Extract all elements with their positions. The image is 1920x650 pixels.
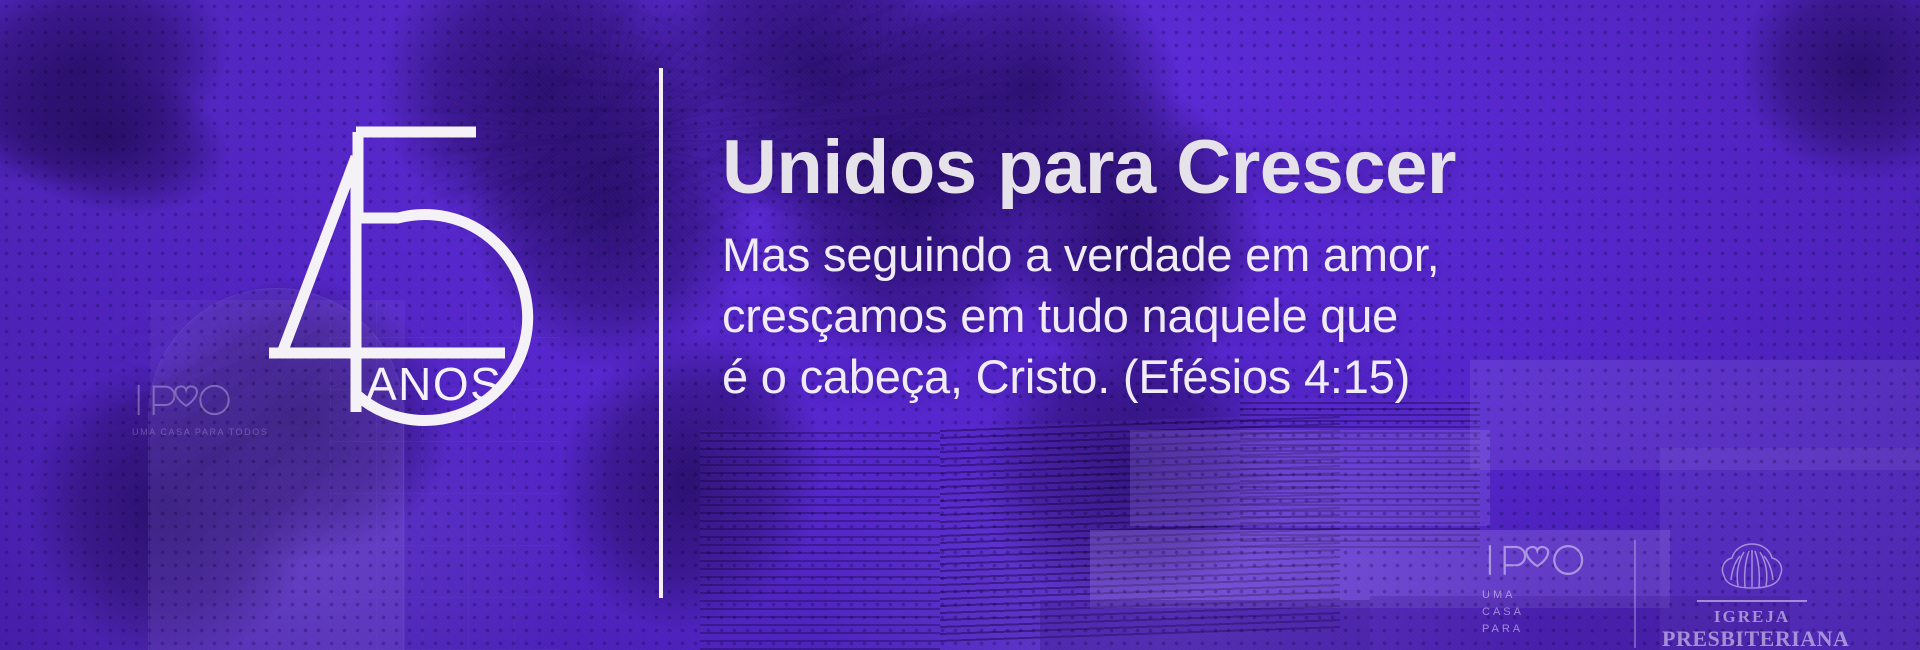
- ipb-logo: IGREJA PRESBITERIANA DOBRASIL: [1662, 540, 1842, 650]
- footer-logo-lockup: UMA CASA PARA IGREJA: [1482, 540, 1842, 650]
- lockup-divider: [1634, 540, 1636, 648]
- page-title: Unidos para Crescer: [722, 130, 1782, 206]
- burning-bush-icon: [1716, 540, 1788, 596]
- ipo-tagline-stack: UMA CASA PARA: [1482, 587, 1608, 638]
- bible-verse: Mas seguindo a verdade em amor, cresçamo…: [722, 224, 1782, 407]
- verse-line-2: cresçamos em tudo naquele que: [722, 285, 1782, 346]
- vertical-divider: [659, 68, 663, 598]
- ipb-line-1: IGREJA: [1662, 607, 1842, 627]
- verse-line-3: é o cabeça, Cristo. (Efésios 4:15): [722, 346, 1782, 407]
- ipo-tagline-line-1: UMA: [1482, 587, 1608, 604]
- anniversary-label: ANOS: [366, 358, 502, 410]
- anniversary-banner: UMA CASA PARA TODOS ANOS Unidos para Cre…: [0, 0, 1920, 650]
- ipb-line-2: PRESBITERIANA: [1662, 626, 1842, 650]
- ipb-rule: [1697, 600, 1807, 602]
- ipo-tagline-line-3: PARA: [1482, 621, 1608, 638]
- ipo-logo: UMA CASA PARA: [1482, 540, 1608, 638]
- anniversary-45-anos-logo: ANOS: [160, 100, 520, 440]
- copy-block: Unidos para Crescer Mas seguindo a verda…: [722, 130, 1782, 407]
- verse-line-1: Mas seguindo a verdade em amor,: [722, 224, 1782, 285]
- ipo-tagline-line-2: CASA: [1482, 604, 1608, 621]
